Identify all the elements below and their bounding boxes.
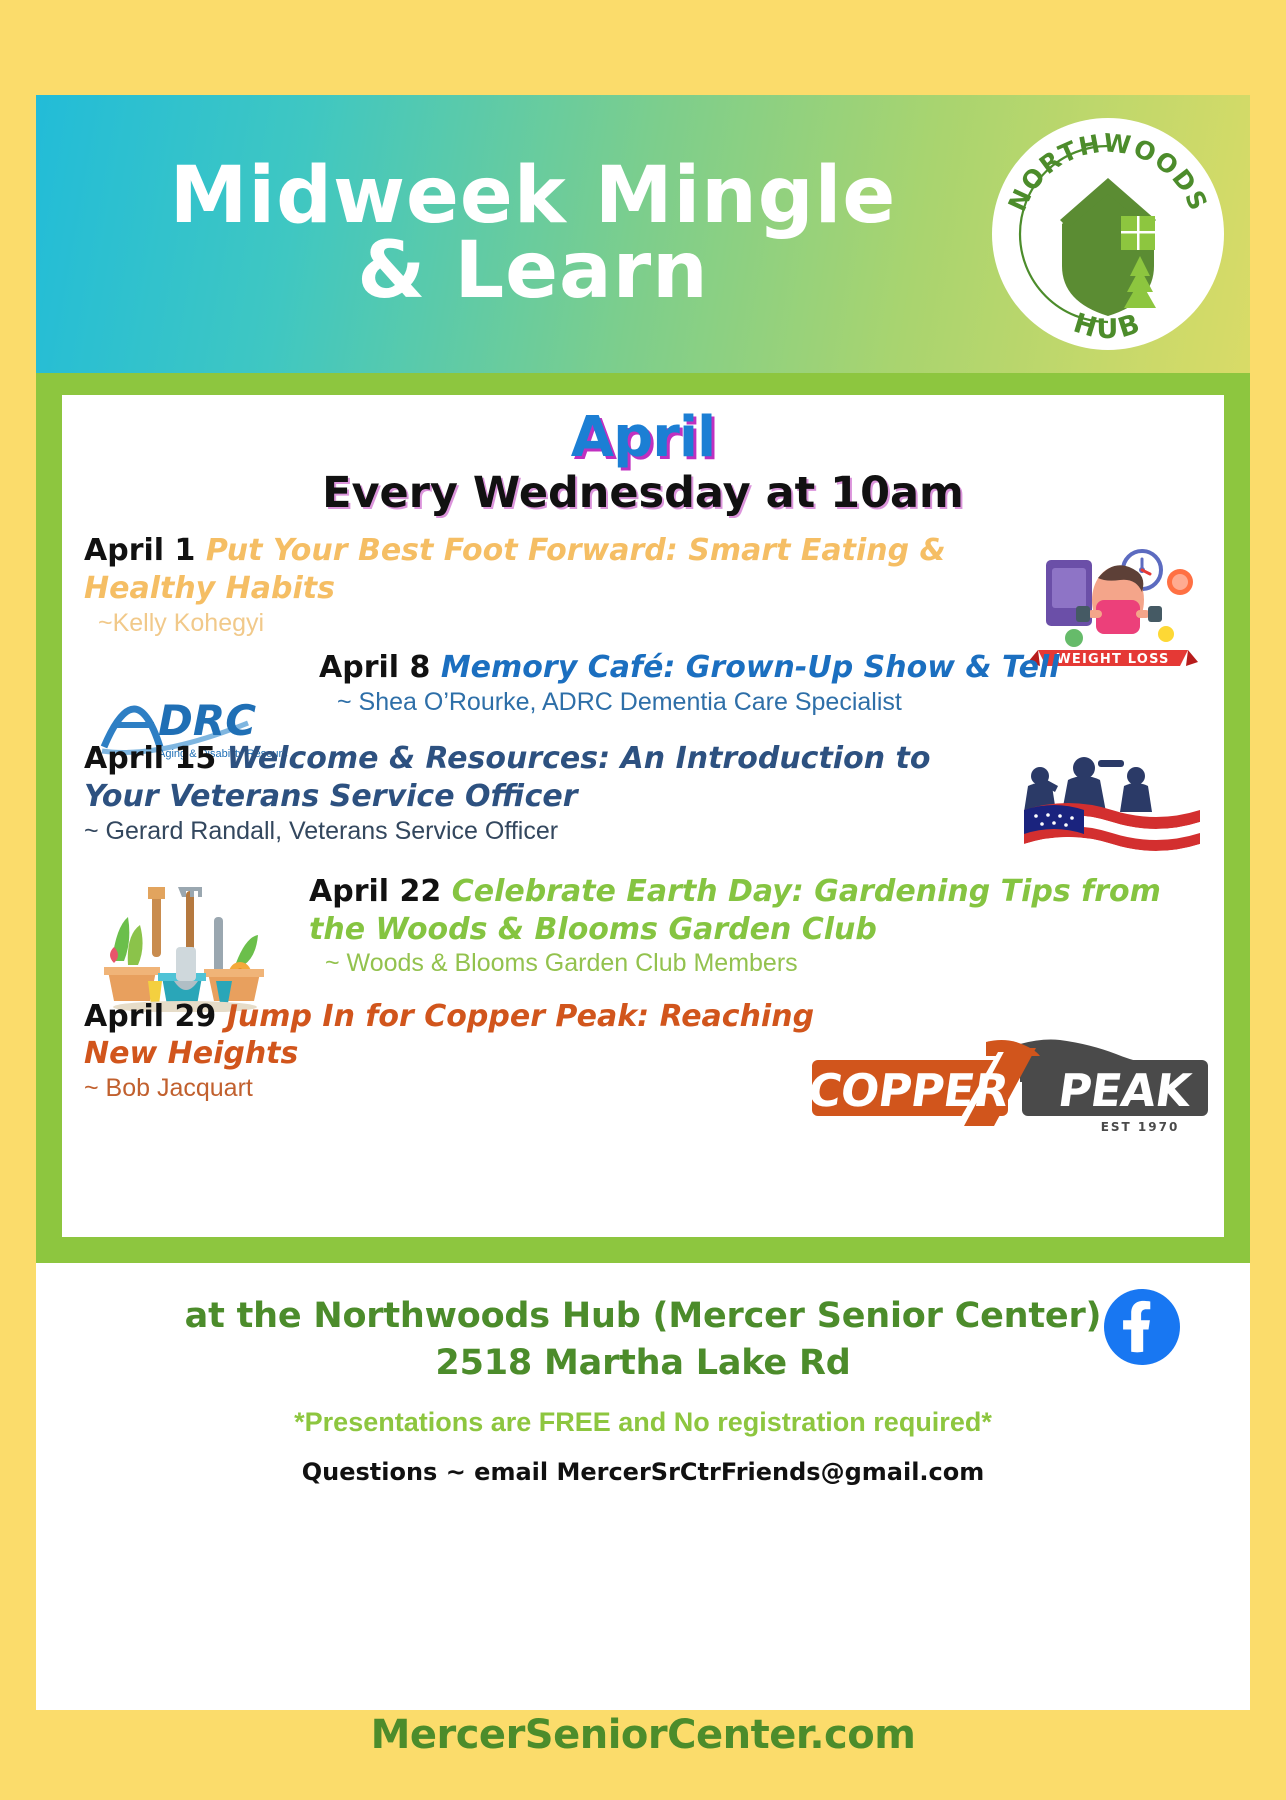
event-item: April 22 Celebrate Earth Day: Gardening … bbox=[84, 873, 1202, 980]
event-item: DRC Aging & Disability Resource Center A… bbox=[84, 649, 1202, 718]
event-body: April 1 Put Your Best Foot Forward: Smar… bbox=[84, 532, 1002, 639]
event-body: April 8 Memory Café: Grown-Up Show & Tel… bbox=[319, 649, 1202, 718]
svg-text:EST 1970: EST 1970 bbox=[1101, 1120, 1180, 1134]
event-date: April 29 bbox=[84, 999, 216, 1034]
events-mat: April Every Wednesday at 10am bbox=[36, 373, 1250, 1263]
svg-text:DRC: DRC bbox=[158, 696, 256, 745]
event-headline: April 1 Put Your Best Foot Forward: Smar… bbox=[84, 532, 1002, 608]
event-presenter: ~ Woods & Blooms Garden Club Members bbox=[309, 948, 1202, 979]
event-date: April 15 bbox=[84, 741, 216, 776]
event-presenter: ~ Gerard Randall, Veterans Service Offic… bbox=[84, 816, 972, 847]
month-heading: April bbox=[84, 409, 1202, 466]
event-date: April 1 bbox=[84, 533, 195, 568]
event-headline: April 29 Jump In for Copper Peak: Reachi… bbox=[84, 998, 892, 1074]
events-card: April Every Wednesday at 10am bbox=[62, 395, 1224, 1237]
venue-line-2: 2518 Martha Lake Rd bbox=[56, 1340, 1230, 1387]
event-item: WEIGHT LOSS April 1 Put Your Best Foot F… bbox=[84, 532, 1202, 639]
event-date: April 22 bbox=[309, 874, 441, 909]
event-date: April 8 bbox=[319, 650, 430, 685]
event-headline: April 15 Welcome & Resources: An Introdu… bbox=[84, 740, 972, 816]
event-presenter: ~ Bob Jacquart bbox=[84, 1073, 892, 1104]
venue-line-1: at the Northwoods Hub (Mercer Senior Cen… bbox=[56, 1293, 1230, 1340]
poster-header: Midweek Mingle & Learn bbox=[36, 95, 1250, 373]
event-presenter: ~ Shea O’Rourke, ADRC Dementia Care Spec… bbox=[319, 687, 1202, 718]
schedule-subtitle: Every Wednesday at 10am bbox=[84, 468, 1202, 518]
facebook-icon[interactable] bbox=[1104, 1289, 1180, 1365]
poster-footer: at the Northwoods Hub (Mercer Senior Cen… bbox=[36, 1263, 1250, 1494]
website-link[interactable]: MercerSeniorCenter.com bbox=[0, 1712, 1286, 1758]
questions-line: Questions ~ email MercerSrCtrFriends@gma… bbox=[56, 1458, 1230, 1486]
veterans-flag-icon bbox=[1006, 746, 1206, 866]
event-item: COPPER PEAK EST 1970 April 29 Jump In fo… bbox=[84, 998, 1202, 1105]
event-title: Put Your Best Foot Forward: Smart Eating… bbox=[84, 533, 946, 606]
page-title: Midweek Mingle & Learn bbox=[36, 159, 990, 309]
northwoods-hub-logo: NORTHWOODS HUB bbox=[990, 116, 1226, 352]
event-body: April 29 Jump In for Copper Peak: Reachi… bbox=[84, 998, 1192, 1105]
event-body: April 22 Celebrate Earth Day: Gardening … bbox=[309, 873, 1202, 980]
event-headline: April 8 Memory Café: Grown-Up Show & Tel… bbox=[319, 649, 1202, 687]
events-list: WEIGHT LOSS April 1 Put Your Best Foot F… bbox=[84, 532, 1202, 1104]
event-presenter: ~Kelly Kohegyi bbox=[84, 608, 1002, 639]
event-body: April 15 Welcome & Resources: An Introdu… bbox=[84, 740, 972, 847]
page-title-line2: & Learn bbox=[86, 234, 980, 309]
event-item: April 15 Welcome & Resources: An Introdu… bbox=[84, 740, 1202, 847]
poster: Midweek Mingle & Learn bbox=[36, 95, 1250, 1710]
event-headline: April 22 Celebrate Earth Day: Gardening … bbox=[309, 873, 1202, 949]
free-note: *Presentations are FREE and No registrat… bbox=[56, 1407, 1230, 1438]
gardening-tools-icon bbox=[90, 877, 280, 1012]
event-title: Memory Café: Grown-Up Show & Tell bbox=[441, 650, 1060, 685]
